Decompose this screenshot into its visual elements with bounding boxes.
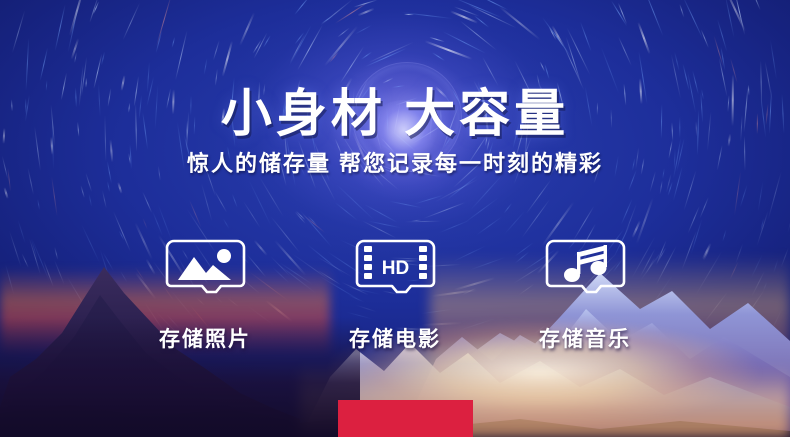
- music-card-icon: [543, 238, 628, 300]
- hd-badge-text: HD: [381, 258, 408, 279]
- feature-list: 存储照片 HD: [0, 238, 790, 353]
- red-banner-block[interactable]: [338, 400, 473, 437]
- feature-label-music: 存储音乐: [539, 323, 631, 353]
- promo-banner: 小身材 大容量 惊人的储存量 帮您记录每一时刻的精彩 存储照片: [0, 0, 790, 437]
- feature-label-photo: 存储照片: [159, 323, 251, 353]
- feature-item-music[interactable]: 存储音乐: [490, 238, 680, 353]
- feature-item-photo[interactable]: 存储照片: [110, 238, 300, 353]
- feature-label-movie: 存储电影: [349, 323, 441, 353]
- feature-item-movie[interactable]: HD 存储电影: [300, 238, 490, 353]
- headline-block: 小身材 大容量 惊人的储存量 帮您记录每一时刻的精彩: [0, 86, 790, 178]
- page-title: 小身材 大容量: [0, 86, 790, 142]
- photo-card-icon: [163, 238, 248, 300]
- page-subtitle: 惊人的储存量 帮您记录每一时刻的精彩: [0, 150, 790, 178]
- film-card-icon: HD: [353, 238, 438, 300]
